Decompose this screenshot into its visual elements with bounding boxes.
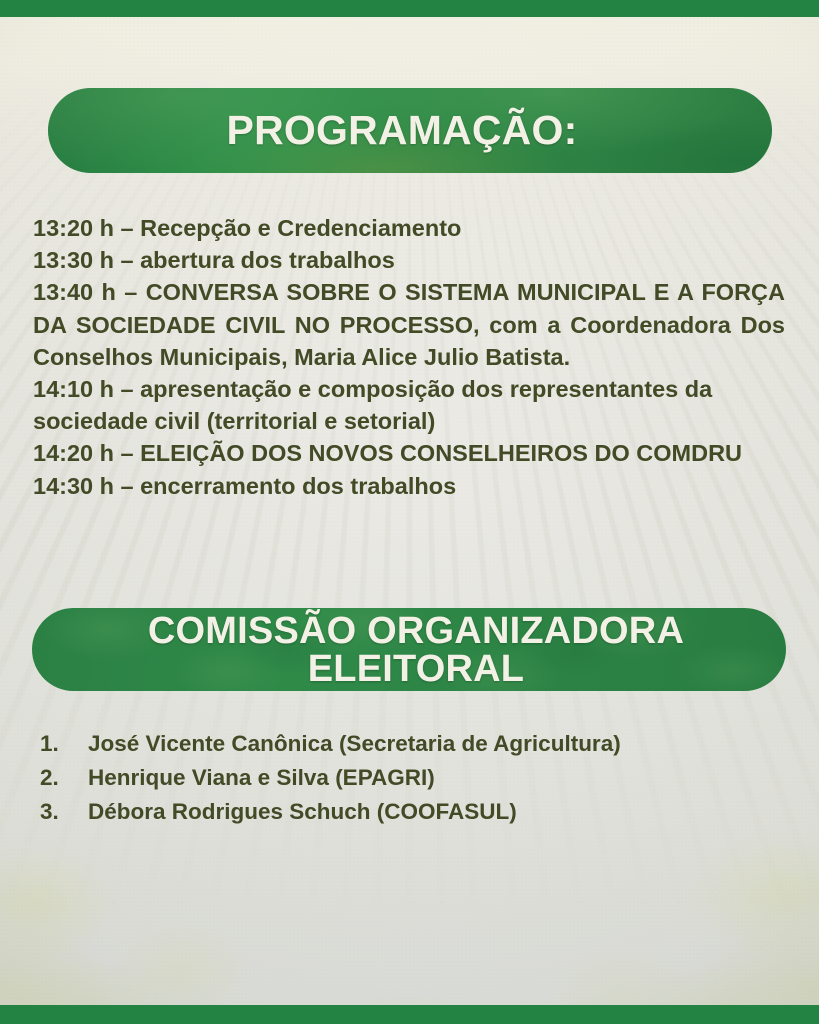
poster-content: PROGRAMAÇÃO: 13:20 h – Recepção e Creden… bbox=[0, 0, 819, 1024]
list-item: 3. Débora Rodrigues Schuch (COOFASUL) bbox=[40, 795, 780, 829]
schedule-item: 13:20 h – Recepção e Credenciamento bbox=[33, 212, 785, 244]
comissao-banner-title: COMISSÃO ORGANIZADORA ELEITORAL bbox=[32, 612, 786, 688]
committee-member-list: 1. José Vicente Canônica (Secretaria de … bbox=[40, 727, 780, 828]
poster-canvas: PROGRAMAÇÃO: 13:20 h – Recepção e Creden… bbox=[0, 0, 819, 1024]
member-name: Débora Rodrigues Schuch (COOFASUL) bbox=[88, 795, 780, 829]
schedule-item: 14:30 h – encerramento dos trabalhos bbox=[33, 470, 785, 502]
member-number: 3. bbox=[40, 795, 88, 829]
top-green-bar bbox=[0, 0, 819, 17]
schedule-item: 14:10 h – apresentação e composição dos … bbox=[33, 373, 785, 437]
member-number: 2. bbox=[40, 761, 88, 795]
programacao-banner: PROGRAMAÇÃO: bbox=[48, 88, 772, 173]
list-item: 2. Henrique Viana e Silva (EPAGRI) bbox=[40, 761, 780, 795]
schedule-list: 13:20 h – Recepção e Credenciamento 13:3… bbox=[33, 212, 785, 502]
schedule-item: 13:30 h – abertura dos trabalhos bbox=[33, 244, 785, 276]
schedule-item: 14:20 h – ELEIÇÃO DOS NOVOS CONSELHEIROS… bbox=[33, 437, 785, 469]
member-name: José Vicente Canônica (Secretaria de Agr… bbox=[88, 727, 780, 761]
list-item: 1. José Vicente Canônica (Secretaria de … bbox=[40, 727, 780, 761]
comissao-banner: COMISSÃO ORGANIZADORA ELEITORAL bbox=[32, 608, 786, 691]
member-number: 1. bbox=[40, 727, 88, 761]
member-name: Henrique Viana e Silva (EPAGRI) bbox=[88, 761, 780, 795]
schedule-item: 13:40 h – CONVERSA SOBRE O SISTEMA MUNIC… bbox=[33, 276, 785, 373]
programacao-banner-title: PROGRAMAÇÃO: bbox=[48, 110, 772, 151]
bottom-green-bar bbox=[0, 1005, 819, 1024]
